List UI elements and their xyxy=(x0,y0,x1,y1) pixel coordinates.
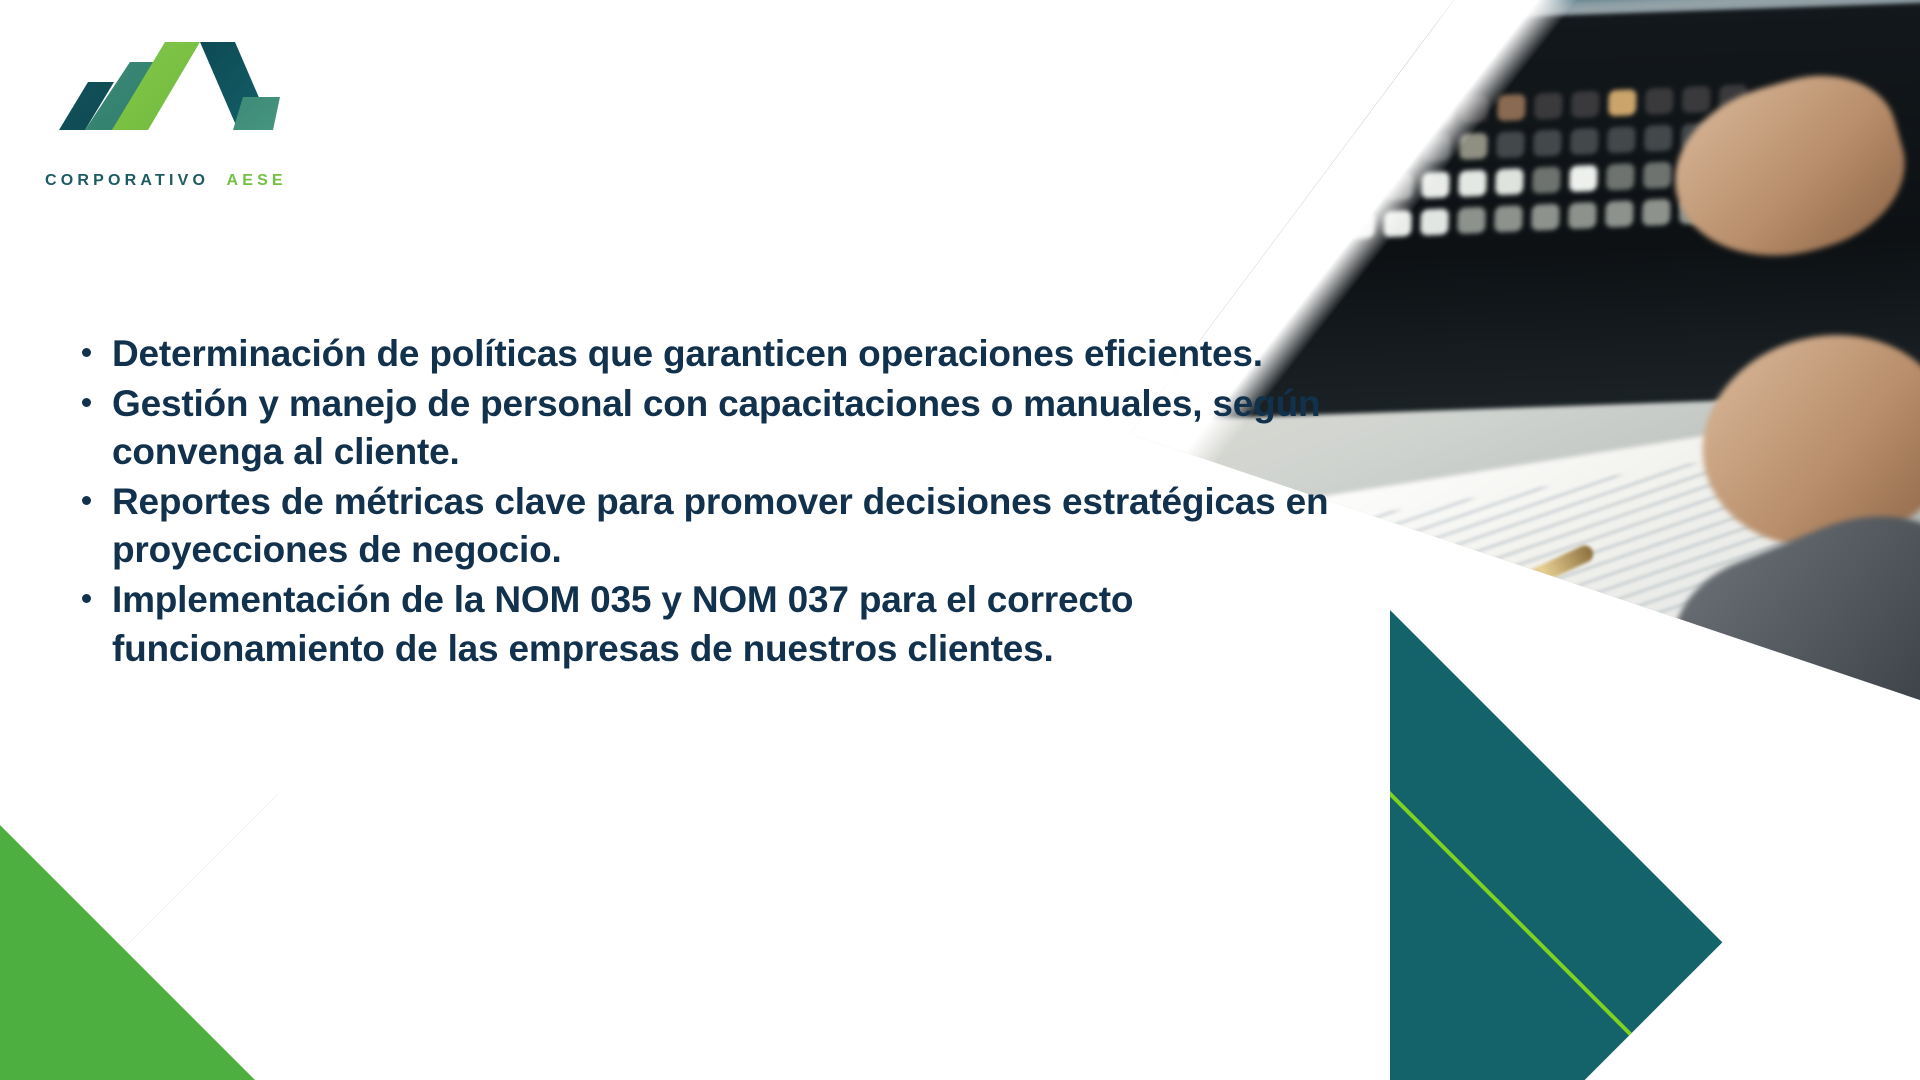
list-item: Determinación de políticas que garantice… xyxy=(70,330,1390,378)
logo-wordmark-secondary: AESE xyxy=(226,172,286,189)
teal-diamond-shape xyxy=(1390,610,1920,1080)
green-triangle-fill xyxy=(0,825,255,1080)
bullet-dot-icon xyxy=(82,594,91,603)
bullet-list: Determinación de políticas que garantice… xyxy=(70,330,1390,673)
bullet-list-container: Determinación de políticas que garantice… xyxy=(70,330,1390,675)
list-item: Reportes de métricas clave para promover… xyxy=(70,478,1390,574)
list-item: Implementación de la NOM 035 y NOM 037 p… xyxy=(70,576,1390,672)
teal-diamond-fill xyxy=(1390,610,1722,1080)
logo-wordmark: CORPORATIVO AESE xyxy=(45,172,287,190)
bullet-dot-icon xyxy=(82,398,91,407)
slide-canvas: CORPORATIVO AESE Determinación de políti… xyxy=(0,0,1920,1080)
bullet-dot-icon xyxy=(82,348,91,357)
logo-mark-icon xyxy=(45,22,345,172)
bullet-text: Implementación de la NOM 035 y NOM 037 p… xyxy=(112,579,1133,668)
corporativo-aese-logo: CORPORATIVO AESE xyxy=(45,22,345,202)
green-triangle-shape xyxy=(0,750,330,1080)
bullet-dot-icon xyxy=(82,496,91,505)
bullet-text: Reportes de métricas clave para promover… xyxy=(112,481,1328,570)
logo-wordmark-primary: CORPORATIVO xyxy=(45,172,209,189)
bullet-text: Determinación de políticas que garantice… xyxy=(112,333,1263,374)
list-item: Gestión y manejo de personal con capacit… xyxy=(70,380,1390,476)
bullet-text: Gestión y manejo de personal con capacit… xyxy=(112,383,1320,472)
